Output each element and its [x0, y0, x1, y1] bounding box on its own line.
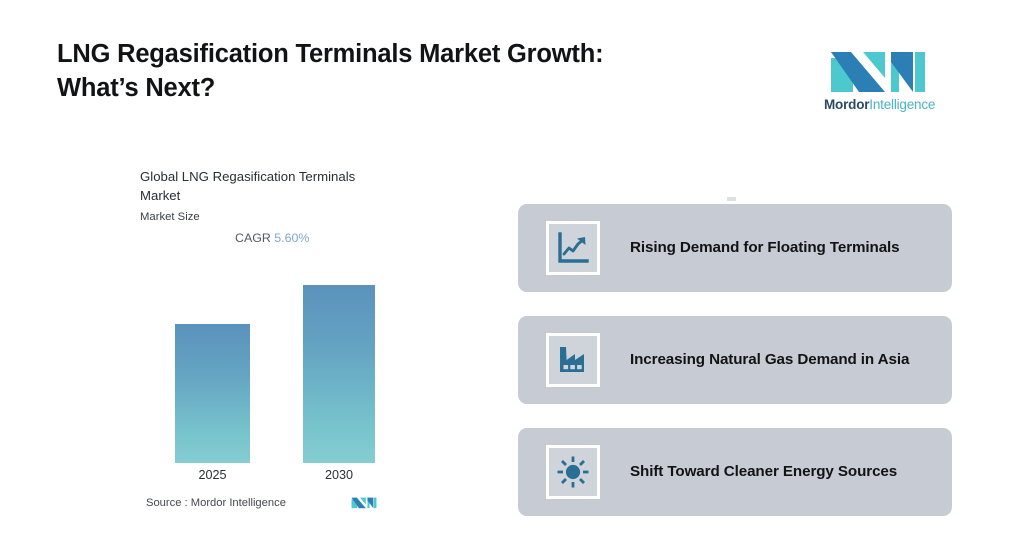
chart-cagr: CAGR 5.60% [235, 231, 410, 245]
bar-chart-plot [140, 273, 410, 463]
highlight-card-cleaner-energy[interactable]: Shift Toward Cleaner Energy Sources [518, 428, 952, 516]
factory-icon [546, 333, 600, 387]
bar-2025 [175, 324, 250, 463]
page-title-line-1: LNG Regasification Terminals Market Grow… [57, 38, 777, 72]
highlight-card-natural-gas-asia[interactable]: Increasing Natural Gas Demand in Asia [518, 316, 952, 404]
x-axis-tick-2030: 2030 [303, 468, 375, 482]
chart-source-label: Source : Mordor Intelligence [146, 497, 286, 509]
brand-logo-mark-icon [829, 48, 927, 93]
highlight-card-label: Increasing Natural Gas Demand in Asia [630, 351, 909, 369]
highlight-cards: Rising Demand for Floating Terminals Inc… [518, 204, 952, 516]
brand-logo: MordorIntelligence [824, 48, 932, 114]
x-axis-labels: 2025 2030 [140, 468, 410, 488]
bar-2030 [303, 285, 375, 463]
chart-subtitle: Market Size [140, 211, 410, 223]
cagr-value: 5.60% [274, 231, 309, 245]
brand-word-mordor: Mordor [824, 97, 869, 112]
chart-source-row: Source : Mordor Intelligence [146, 495, 396, 515]
highlight-card-label: Rising Demand for Floating Terminals [630, 239, 900, 257]
chart-panel: Global LNG Regasification Terminals Mark… [140, 168, 410, 518]
line-chart-growth-icon [546, 221, 600, 275]
page-title-line-2: What’s Next? [57, 72, 777, 106]
sun-icon [546, 445, 600, 499]
brand-wordmark: MordorIntelligence [824, 97, 932, 112]
render-artifact [727, 197, 736, 201]
source-brand-mark-icon [351, 495, 377, 510]
slide-canvas: LNG Regasification Terminals Market Grow… [0, 0, 1024, 560]
x-axis-tick-2025: 2025 [175, 468, 250, 482]
brand-word-intelligence: Intelligence [869, 97, 935, 112]
highlight-card-label: Shift Toward Cleaner Energy Sources [630, 463, 897, 481]
page-title: LNG Regasification Terminals Market Grow… [57, 38, 777, 106]
highlight-card-floating-terminals[interactable]: Rising Demand for Floating Terminals [518, 204, 952, 292]
cagr-label: CAGR [235, 231, 271, 245]
chart-title: Global LNG Regasification Terminals Mark… [140, 168, 390, 205]
